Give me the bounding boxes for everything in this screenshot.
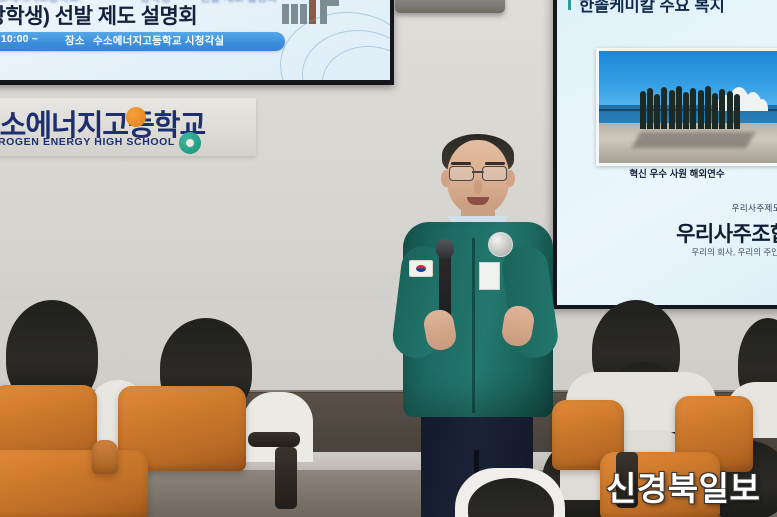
photo-caption: 혁신 우수 사원 해외연수 (557, 166, 777, 180)
section-label: 우리사주제도 (732, 202, 777, 214)
right-screen-title: 한솔케미칼 주요 복지 (579, 0, 725, 16)
news-watermark: 신경북일보 (606, 462, 760, 510)
photo-group-shadow (632, 132, 755, 148)
photo-scene: 소에너지고등학교 장학생 선발 제도 설명회 (장학생) 선발 제도 설명회 )… (0, 0, 777, 517)
auditorium-seat (0, 450, 148, 517)
school-name-sign: 수소에너지고등학교 HYDROGEN ENERGY HIGH SCHOOL (0, 98, 256, 156)
seat-armrest-post (275, 447, 297, 509)
speaker-nose (474, 180, 482, 194)
seat-armrest (248, 432, 300, 447)
seat-detail (92, 440, 118, 474)
place-value: 수소에너지고등학교 시청각실 (93, 33, 224, 48)
projector-housing (395, 0, 505, 13)
green-dot-accent (179, 132, 201, 154)
speaker-brow-left (451, 162, 471, 165)
korean-flag-patch (409, 260, 433, 277)
section-subtitle: 우리의 회사, 우리의 주인 (691, 246, 777, 258)
right-projection-screen: 한솔케미칼 주요 복지 혁신 우수 (553, 0, 777, 309)
place-label: 장소 (65, 33, 85, 48)
left-screen-headline: (장학생) 선발 제도 설명회 (0, 0, 310, 30)
left-screen-info-text: ) 10:00 ~ 장소 수소에너지고등학교 시청각실 (0, 33, 290, 50)
orange-dot-accent (126, 107, 146, 127)
speaker-brow-right (485, 162, 505, 165)
school-name-english: HYDROGEN ENERGY HIGH SCHOOL (0, 136, 175, 148)
section-title: 우리사주조합 (676, 218, 777, 248)
left-projection-screen: 소에너지고등학교 장학생 선발 제도 설명회 (장학생) 선발 제도 설명회 )… (0, 0, 394, 85)
sydney-opera-house-group-photo (596, 48, 777, 166)
glasses-icon (449, 166, 507, 180)
id-card (479, 262, 500, 290)
jacket-emblem-badge (488, 232, 513, 257)
speaker-figure (395, 140, 565, 470)
event-time: ) 10:00 ~ (0, 33, 38, 45)
photo-group-people (640, 85, 744, 130)
